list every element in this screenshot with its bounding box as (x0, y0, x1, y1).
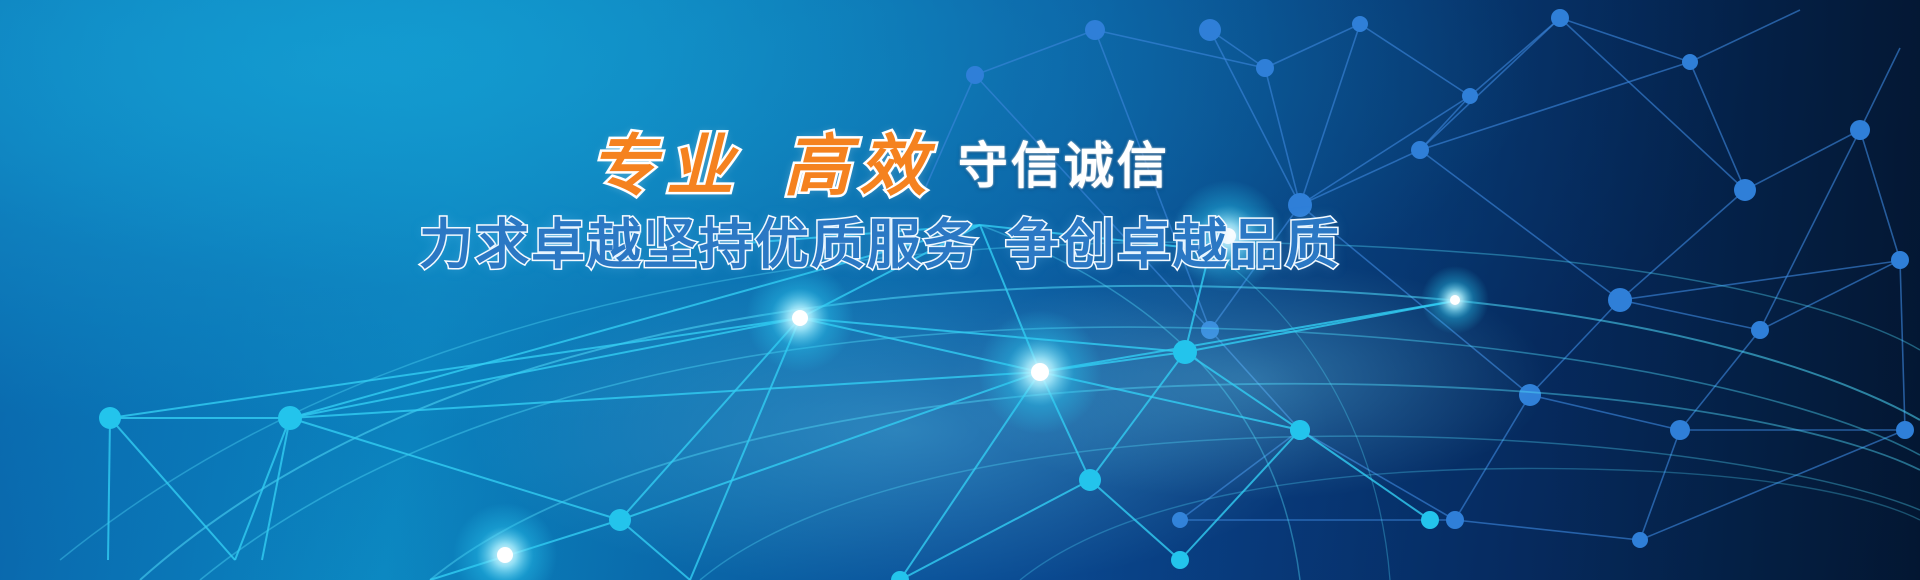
hero-banner: 专业 高效 守信诚信 力求卓越坚持优质服务 争创卓越品质 abstract gl… (0, 0, 1920, 580)
cyan-network-layer (0, 0, 1920, 580)
